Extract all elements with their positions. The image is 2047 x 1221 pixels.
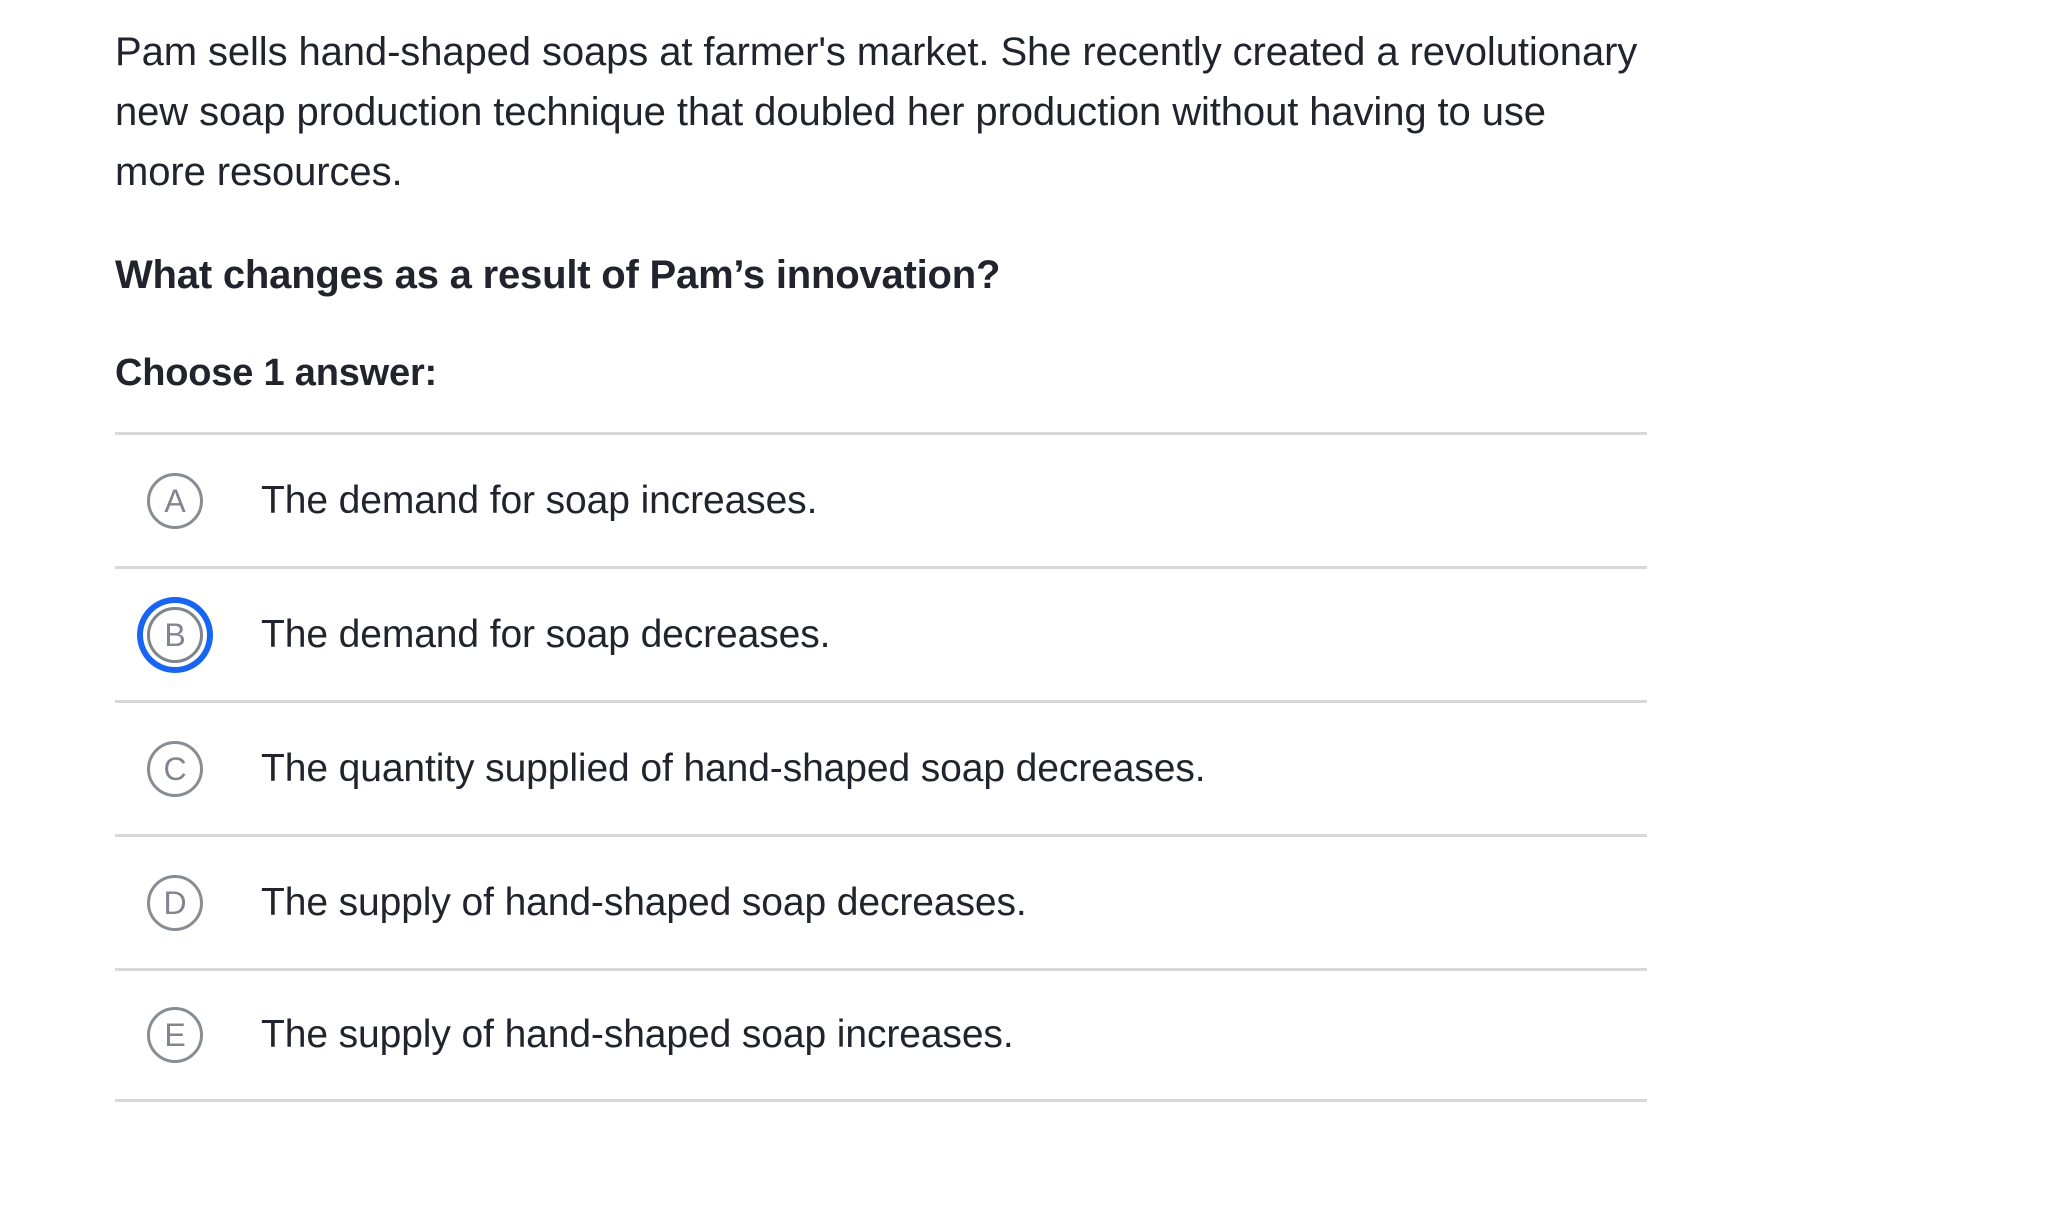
answer-option-a[interactable]: AThe demand for soap increases. — [115, 432, 1647, 566]
choose-answer-label: Choose 1 answer: — [115, 304, 1647, 400]
option-letter-badge-d[interactable]: D — [147, 875, 203, 931]
answer-options-list: AThe demand for soap increases.BThe dema… — [115, 432, 1647, 1102]
option-label: The supply of hand-shaped soap decreases… — [261, 877, 1027, 929]
question-page: Pam sells hand-shaped soaps at farmer's … — [0, 0, 2047, 1221]
option-label: The supply of hand-shaped soap increases… — [261, 1009, 1014, 1061]
answer-option-d[interactable]: DThe supply of hand-shaped soap decrease… — [115, 834, 1647, 968]
question-prompt: What changes as a result of Pam’s innova… — [115, 202, 1647, 304]
question-content: Pam sells hand-shaped soaps at farmer's … — [115, 0, 1647, 1102]
option-letter-badge-b[interactable]: B — [147, 607, 203, 663]
answer-option-b[interactable]: BThe demand for soap decreases. — [115, 566, 1647, 700]
option-label: The demand for soap decreases. — [261, 609, 830, 661]
question-stem: Pam sells hand-shaped soaps at farmer's … — [115, 0, 1647, 202]
option-label: The quantity supplied of hand-shaped soa… — [261, 743, 1205, 795]
option-letter-badge-e[interactable]: E — [147, 1007, 203, 1063]
answer-option-e[interactable]: EThe supply of hand-shaped soap increase… — [115, 968, 1647, 1102]
option-label: The demand for soap increases. — [261, 475, 817, 527]
answer-option-c[interactable]: CThe quantity supplied of hand-shaped so… — [115, 700, 1647, 834]
option-letter-badge-a[interactable]: A — [147, 473, 203, 529]
option-letter-badge-c[interactable]: C — [147, 741, 203, 797]
